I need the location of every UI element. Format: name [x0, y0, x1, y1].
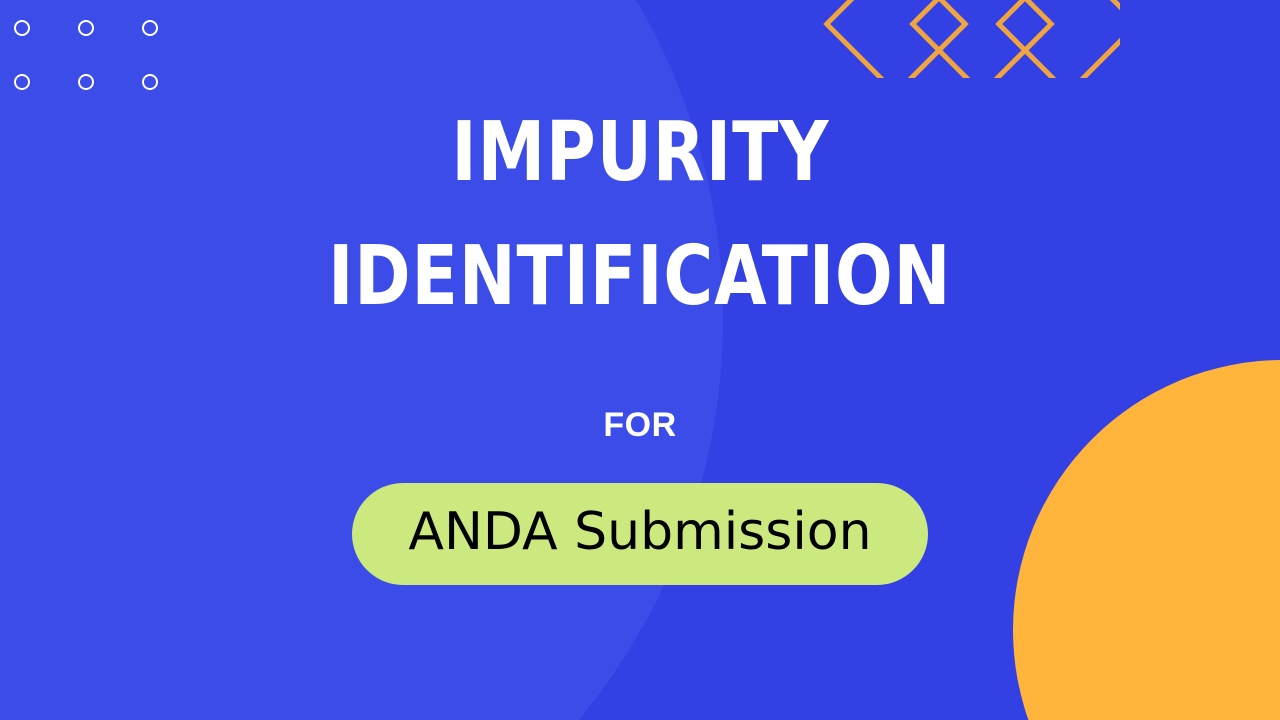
slide-content: IMPURITY IDENTIFICATION FOR ANDA Submiss… [0, 0, 1280, 720]
headline-line-2: IDENTIFICATION [328, 216, 951, 338]
anda-submission-pill[interactable]: ANDA Submission [352, 483, 927, 585]
slide-canvas: IMPURITY IDENTIFICATION FOR ANDA Submiss… [0, 0, 1280, 720]
subline-for: FOR [603, 406, 676, 444]
headline-line-1: IMPURITY [451, 92, 829, 214]
